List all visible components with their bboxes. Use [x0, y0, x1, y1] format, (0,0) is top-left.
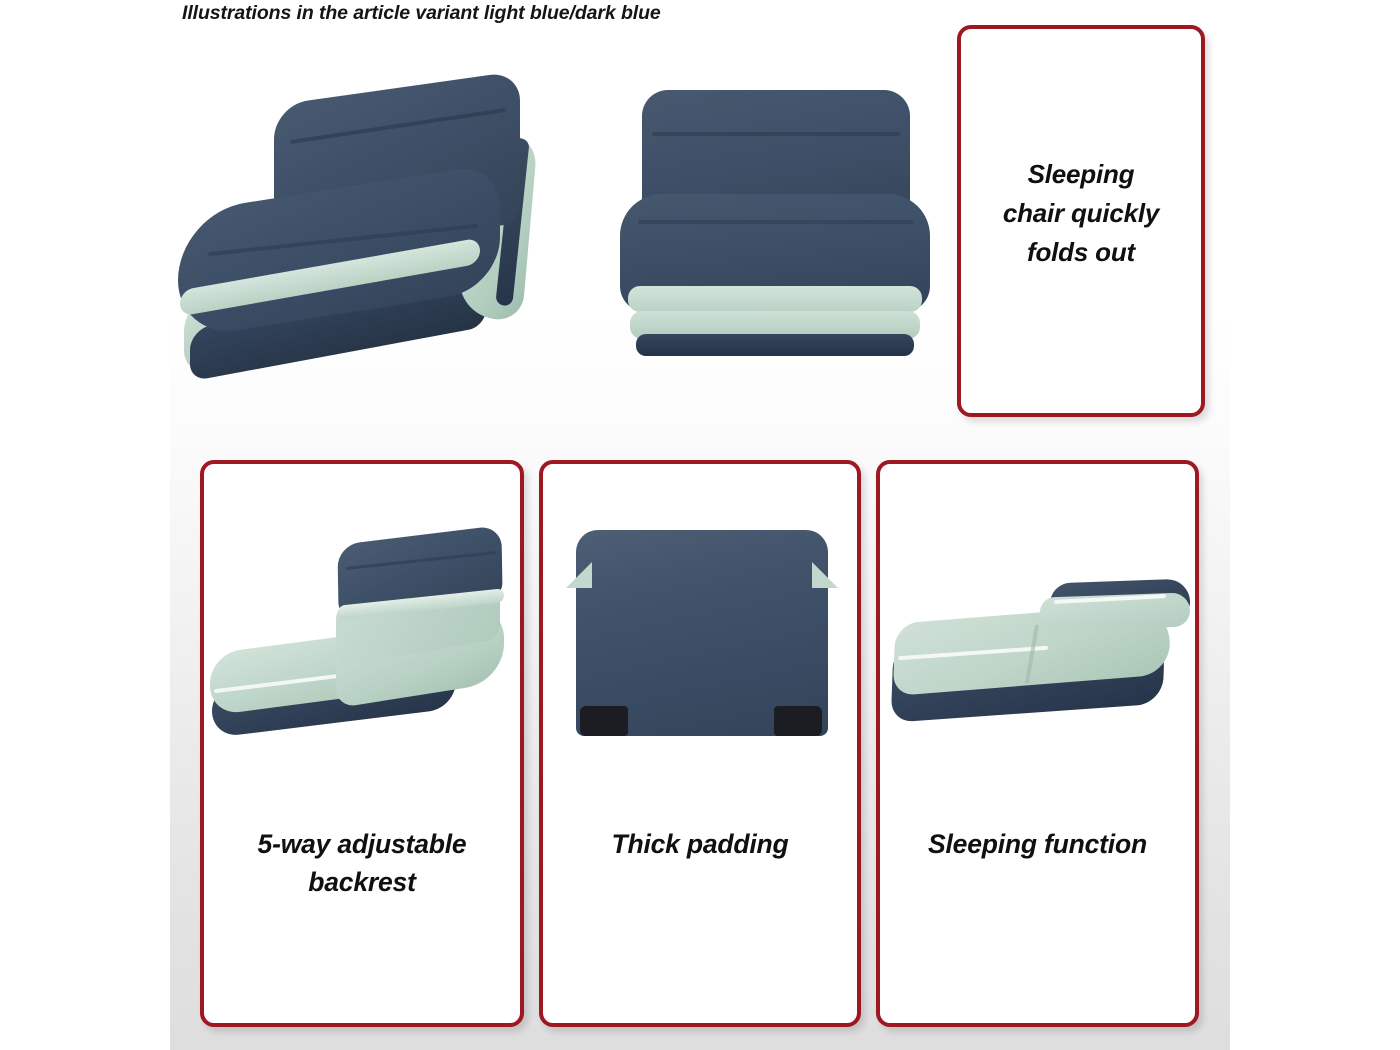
- feature-caption-line-1: 5-way adjustable: [204, 826, 520, 864]
- page-title: Illustrations in the article variant lig…: [182, 2, 661, 25]
- foot-left: [580, 706, 628, 736]
- feature-caption: Thick padding: [543, 826, 857, 864]
- chair-base-dark-blue: [636, 334, 914, 356]
- chair-front-view-illustration: [620, 90, 930, 360]
- feature-caption-line-2: backrest: [204, 864, 520, 902]
- chair-angled-view-illustration: [178, 88, 548, 363]
- feature-card-sleeping-function: Sleeping function: [876, 460, 1199, 1027]
- hero-caption-line-3: folds out: [961, 233, 1201, 272]
- reclined-chair-illustration: [210, 525, 510, 737]
- chair-seat-seam: [638, 220, 914, 224]
- feature-caption-line-1: Thick padding: [543, 826, 857, 864]
- feature-caption-line-1: Sleeping function: [880, 826, 1195, 864]
- foot-right: [774, 706, 822, 736]
- hero-caption: Sleeping chair quickly folds out: [961, 155, 1201, 272]
- folded-chair-rear-illustration: [566, 530, 838, 746]
- chair-backrest-seam: [652, 132, 900, 136]
- flat-bed-illustration: [890, 575, 1190, 735]
- feature-caption: 5-way adjustable backrest: [204, 826, 520, 902]
- hero-caption-line-2: chair quickly: [961, 194, 1201, 233]
- feature-caption: Sleeping function: [880, 826, 1195, 864]
- chair-fold-layer-upper: [628, 286, 922, 312]
- hero-caption-line-1: Sleeping: [961, 155, 1201, 194]
- infographic-page: Illustrations in the article variant lig…: [0, 0, 1400, 1050]
- hero-callout-card: Sleeping chair quickly folds out: [957, 25, 1205, 417]
